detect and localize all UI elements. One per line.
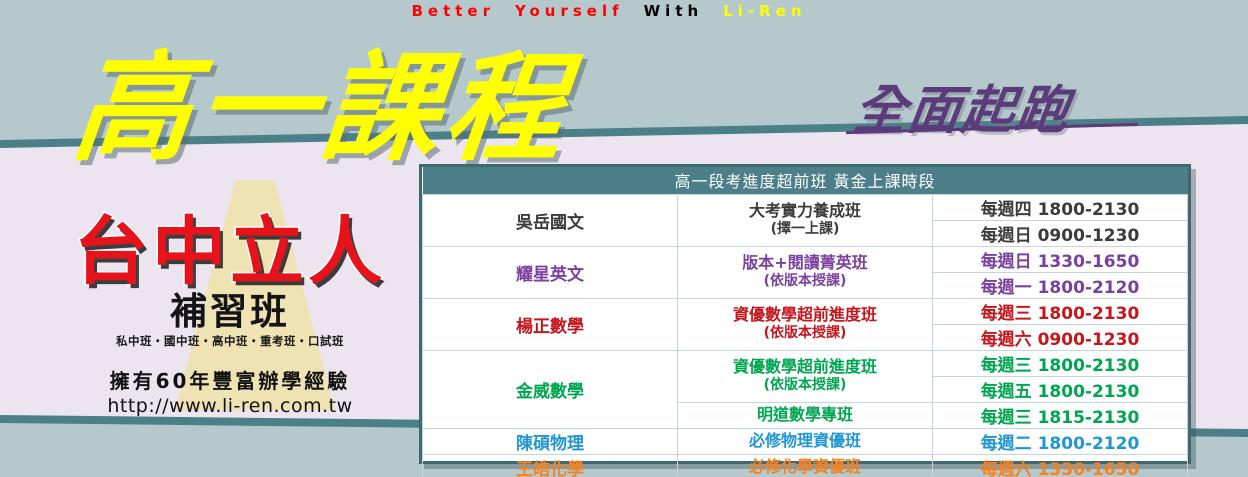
course-title: 必修物理資優班	[749, 431, 861, 450]
table-row: 耀星英文版本+閱讀菁英班(依版本授課)每週日 1330-1650	[423, 246, 1188, 272]
logo-website-url[interactable]: http://www.li-ren.com.tw	[55, 395, 405, 417]
table-row: 王皓化學必修化學資優班每週六 1330-1650	[423, 454, 1188, 477]
course-title: 資優數學超前進度班	[733, 305, 877, 324]
schedule-table-body: 吳岳國文大考實力養成班(擇一上課)每週四 1800-2130每週日 0900-1…	[423, 194, 1188, 477]
teacher-cell: 王皓化學	[423, 454, 678, 477]
teacher-cell: 陳碩物理	[423, 428, 678, 454]
time-cell: 每週三 1800-2130	[933, 298, 1188, 324]
time-cell: 每週日 1330-1650	[933, 246, 1188, 272]
time-cell: 每週四 1800-2130	[933, 194, 1188, 220]
logo-experience: 擁有60年豐富辦學經驗	[55, 365, 405, 394]
course-title: 大考實力養成班	[749, 201, 861, 220]
course-title: 必修化學資優班	[749, 457, 861, 476]
time-cell: 每週三 1800-2130	[933, 350, 1188, 376]
course-subtitle: (依版本授課)	[680, 325, 930, 342]
course-title: 明道數學專班	[757, 405, 853, 424]
course-cell: 明道數學專班	[678, 402, 933, 428]
course-cell: 必修化學資優班	[678, 454, 933, 477]
course-title: 資優數學超前進度班	[733, 357, 877, 376]
schedule-table-header: 高一段考進度超前班 黃金上課時段	[423, 167, 1188, 194]
course-cell: 版本+閱讀菁英班(依版本授課)	[678, 246, 933, 298]
logo-type: 補習班	[55, 293, 405, 330]
time-cell: 每週二 1800-2120	[933, 428, 1188, 454]
brand-logo: 台中立人 補習班 私中班・國中班・高中班・重考班・口試班 擁有60年豐富辦學經驗…	[55, 215, 405, 417]
course-cell: 大考實力養成班(擇一上課)	[678, 194, 933, 246]
tagline-word-4: Li-Ren	[723, 2, 806, 20]
course-cell: 資優數學超前進度班(依版本授課)	[678, 298, 933, 350]
course-cell: 資優數學超前進度班(依版本授課)	[678, 350, 933, 402]
course-cell: 必修物理資優班	[678, 428, 933, 454]
teacher-cell: 吳岳國文	[423, 194, 678, 246]
banner-stage: BetterYourselfWithLi-Ren 高一課程 全面起跑 台中立人 …	[0, 0, 1248, 477]
time-cell: 每週三 1815-2130	[933, 402, 1188, 428]
table-row: 吳岳國文大考實力養成班(擇一上課)每週四 1800-2130	[423, 194, 1188, 220]
course-subtitle: (依版本授課)	[680, 273, 930, 290]
page-title: 高一課程	[66, 12, 580, 183]
table-row: 陳碩物理必修物理資優班每週二 1800-2120	[423, 428, 1188, 454]
course-subtitle: (依版本授課)	[680, 377, 930, 394]
teacher-cell: 耀星英文	[423, 246, 678, 298]
time-cell: 每週五 1800-2130	[933, 376, 1188, 402]
tagline-word-3: With	[644, 2, 704, 20]
table-row: 金威數學資優數學超前進度班(依版本授課)每週三 1800-2130	[423, 350, 1188, 376]
time-cell: 每週日 0900-1230	[933, 220, 1188, 246]
teacher-cell: 楊正數學	[423, 298, 678, 350]
time-cell: 每週六 0900-1230	[933, 324, 1188, 350]
schedule-table-container: 高一段考進度超前班 黃金上課時段 吳岳國文大考實力養成班(擇一上課)每週四 18…	[419, 164, 1191, 464]
logo-name: 台中立人	[55, 215, 405, 289]
schedule-table: 高一段考進度超前班 黃金上課時段 吳岳國文大考實力養成班(擇一上課)每週四 18…	[422, 167, 1188, 477]
logo-class-list: 私中班・國中班・高中班・重考班・口試班	[55, 333, 405, 349]
time-cell: 每週六 1330-1650	[933, 454, 1188, 477]
time-cell: 每週一 1800-2120	[933, 272, 1188, 298]
course-subtitle: (擇一上課)	[680, 221, 930, 238]
course-title: 版本+閱讀菁英班	[742, 253, 867, 272]
table-row: 楊正數學資優數學超前進度班(依版本授課)每週三 1800-2130	[423, 298, 1188, 324]
teacher-cell: 金威數學	[423, 350, 678, 428]
